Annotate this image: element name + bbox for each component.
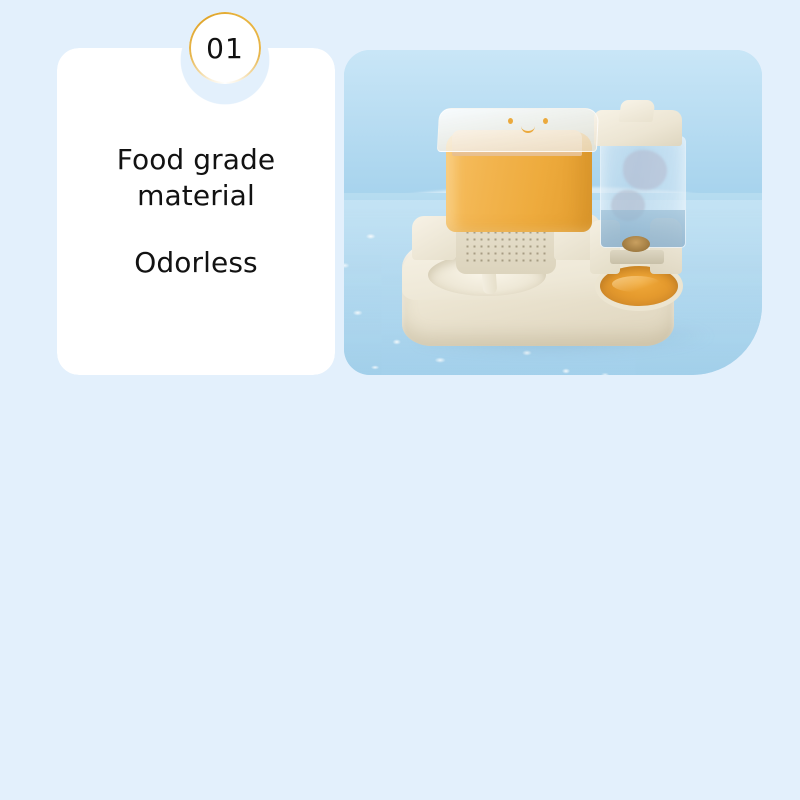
product-photo-feeder — [344, 50, 762, 375]
feature-section-02: Rubber non-slip base High friction force… — [0, 400, 800, 800]
water-bottle — [600, 136, 686, 248]
bottle-spout — [618, 100, 655, 122]
pet-feeder-product — [394, 102, 714, 352]
bottle-neck — [610, 250, 664, 264]
feature-text-block-secondary-01: Odorless — [65, 245, 327, 281]
bottle-reflection-upper — [623, 150, 667, 190]
feature-section-01: Food grade material Odorless 01 — [0, 0, 800, 400]
bottle-valve — [622, 236, 650, 252]
face-eye-left-icon — [508, 118, 513, 124]
feature-text-line: Odorless — [65, 245, 327, 281]
feature-card-01: Food grade material Odorless — [57, 48, 335, 375]
feature-text-block-primary-01: Food grade material — [65, 142, 327, 215]
smiley-face-icon — [506, 118, 550, 136]
feature-text-line: Food grade — [65, 142, 327, 178]
face-mouth-icon — [521, 126, 535, 133]
step-number-label: 01 — [206, 32, 244, 65]
feature-text-group-01: Food grade material Odorless — [57, 142, 335, 281]
infographic-page: Food grade material Odorless 01 — [0, 0, 800, 800]
step-number-badge-01: 01 — [189, 12, 261, 84]
face-eye-right-icon — [543, 118, 548, 124]
feature-text-line: material — [65, 178, 327, 214]
